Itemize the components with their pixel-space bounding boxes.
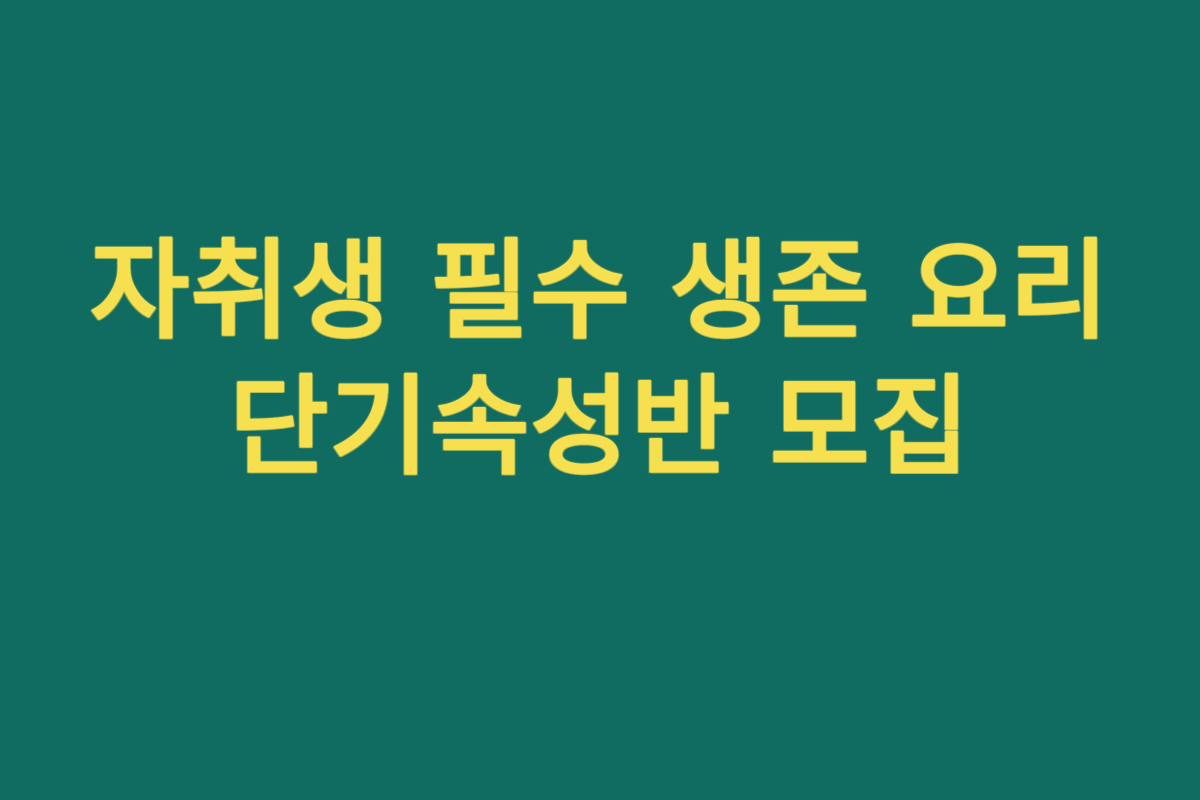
headline-line-2: 단기속성반 모집	[229, 362, 971, 494]
promo-banner: 자취생 필수 생존 요리 단기속성반 모집	[0, 0, 1200, 800]
headline-block: 자취생 필수 생존 요리 단기속성반 모집	[0, 226, 1200, 494]
headline-line-1: 자취생 필수 생존 요리	[90, 226, 1110, 358]
